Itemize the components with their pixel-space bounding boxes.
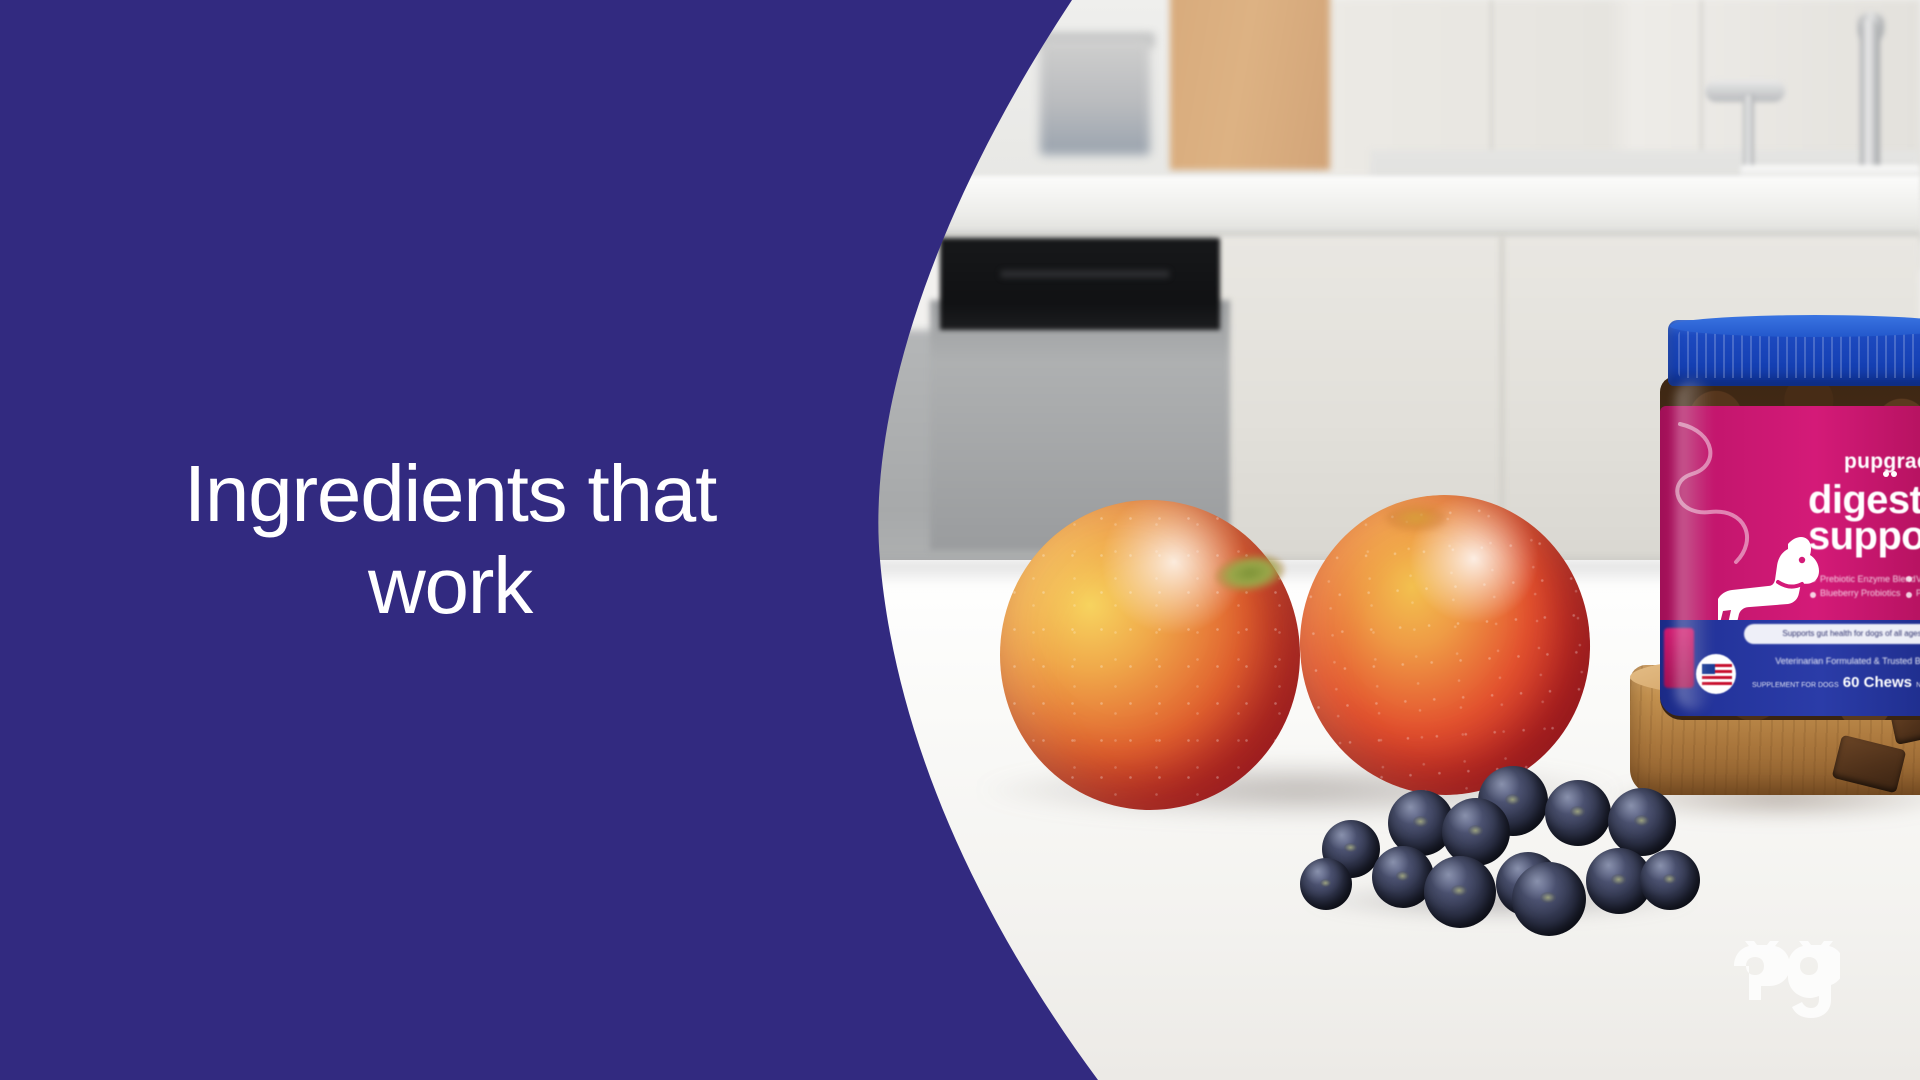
pupgrade-pg-logo [1732, 940, 1840, 1022]
counter-top [860, 176, 1920, 238]
slide-canvas: pupgrade digestive support Prebiotic Enz… [0, 0, 1920, 1080]
faucet-neck [1743, 95, 1754, 175]
oven-front [940, 238, 1220, 330]
faucet-spout [1860, 20, 1880, 180]
count-prefix: SUPPLEMENT FOR DOGS [1752, 682, 1839, 689]
count-suffix: NET WT 9.5 OZ [1916, 682, 1920, 689]
jar-lid-ribs [1678, 330, 1920, 378]
chew-count: SUPPLEMENT FOR DOGS 60 Chews NET WT 9.5 … [1752, 674, 1920, 691]
background-wood-panel [1170, 0, 1330, 170]
kitchen-canister [1040, 40, 1150, 155]
blueberry [1640, 850, 1700, 910]
blueberry [1300, 858, 1352, 910]
blueberry [1545, 780, 1611, 846]
cabinet-seam [1700, 0, 1703, 175]
bullet-dot [1810, 576, 1816, 582]
blueberry [1512, 862, 1586, 936]
supplement-jar: pupgrade digestive support Prebiotic Enz… [1660, 320, 1920, 720]
count-value: 60 Chews [1843, 674, 1912, 691]
headline-line-2: work [368, 540, 532, 632]
apple-front [1000, 500, 1300, 810]
product-claim: Supports gut health for dogs of all ages [1744, 624, 1920, 644]
cabinet-seam [1490, 0, 1493, 175]
ingredient-list-right: Vitamin D3 Pumpkin [1916, 572, 1920, 600]
blueberry [1608, 788, 1676, 856]
brand-name: pupgrade [1818, 450, 1920, 474]
vet-formulated-line: Veterinarian Formulated & Trusted Brand [1752, 656, 1920, 666]
blueberry [1424, 856, 1496, 928]
apple-speckles [1000, 500, 1300, 810]
ingredient-list-left: Prebiotic Enzyme Blend Blueberry Probiot… [1820, 572, 1916, 600]
upper-cabinets [1320, 0, 1920, 175]
jar-highlight-left [1676, 380, 1712, 710]
headline-line-1: Ingredients that [184, 448, 716, 540]
bullet-dot [1810, 592, 1816, 598]
apple-stem-well [1385, 505, 1447, 531]
headline-block: Ingredients that work [0, 0, 900, 1080]
brand-paw-dots-icon [1882, 470, 1898, 478]
product-name-line2: support [1808, 516, 1920, 556]
oven-handle [1000, 270, 1170, 278]
